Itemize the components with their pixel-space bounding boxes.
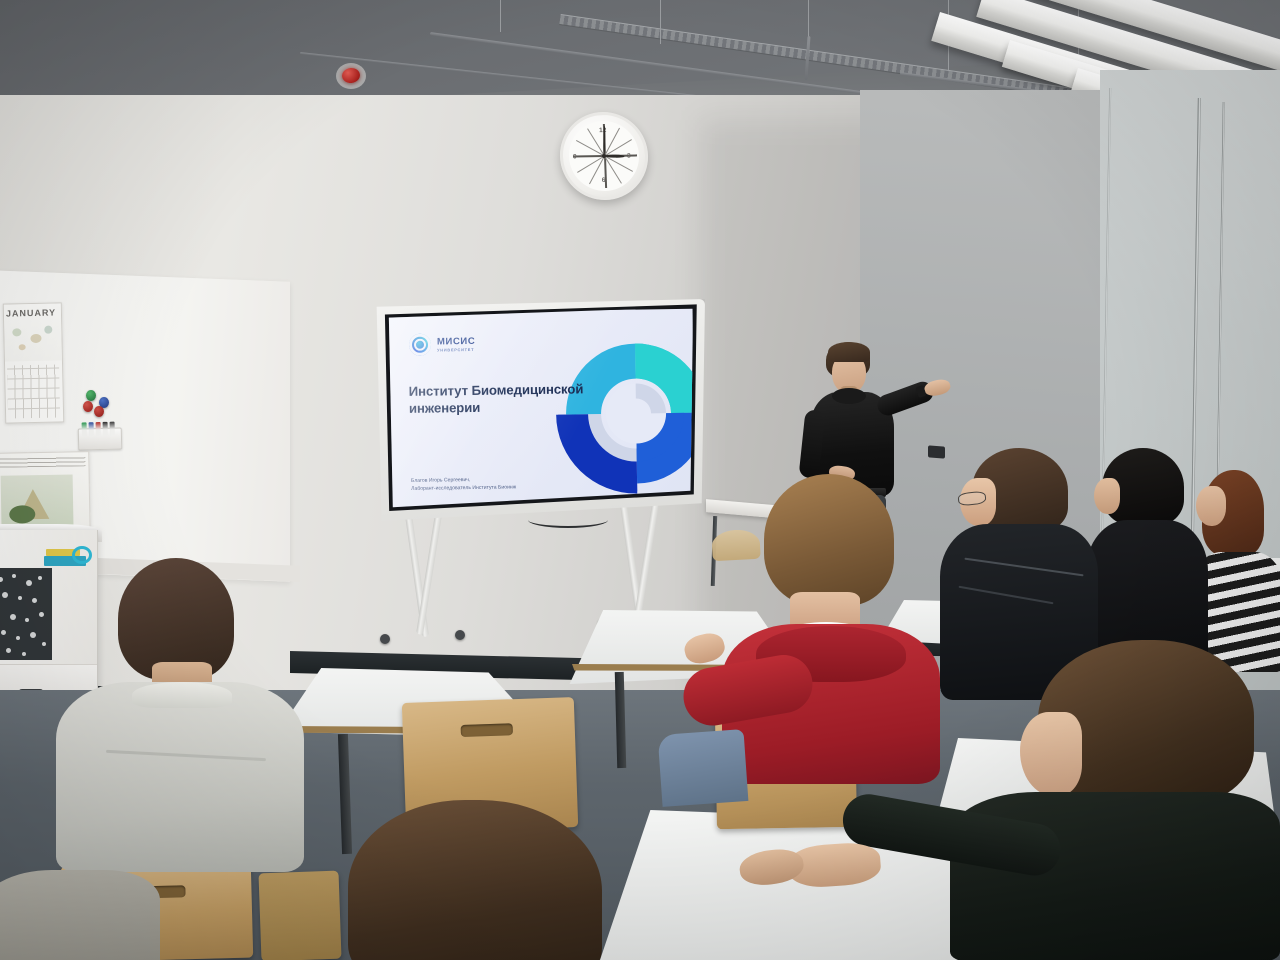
clock-number-3: 3 [627, 153, 631, 160]
calendar-heading: JANUARY [6, 308, 56, 319]
ceiling-hanger [500, 0, 501, 32]
marker-dark[interactable] [110, 422, 115, 436]
display-stand-caster [455, 630, 465, 640]
student-red-hoodie-jeans [658, 729, 749, 807]
misis-swirl-logo-icon [409, 334, 431, 356]
misis-logo-sub-text: УНИВЕРСИТЕТ [437, 347, 475, 351]
marker-green[interactable] [82, 422, 87, 436]
student-red-hoodie-hands [682, 630, 728, 667]
display-screen[interactable]: МИСИС УНИВЕРСИТЕТ Институт Биомедицинско… [375, 299, 705, 521]
misis-logo: МИСИС УНИВЕРСИТЕТ [409, 333, 476, 356]
presenter-right-hand [923, 378, 952, 398]
misis-logo-main-text: МИСИС [437, 336, 475, 346]
display-stand-caster [380, 634, 390, 644]
student-bottom-left-shoulder [0, 840, 150, 960]
student-red-hoodie-hair [764, 474, 894, 606]
student-foreground-face [1020, 712, 1082, 796]
magnet-green[interactable] [86, 390, 96, 401]
chair-bottom-center[interactable] [258, 871, 341, 960]
magnet-red[interactable] [83, 401, 93, 412]
clock-number-6: 6 [602, 177, 606, 184]
slide-title: Институт Биомедицинской инженерии [409, 381, 605, 417]
poster-caption-lines [0, 456, 85, 468]
slide-author-block: Благов Игорь Сергеевич, Лаборант-исследо… [411, 474, 611, 493]
chair-handle-slot [461, 723, 513, 737]
marker-red[interactable] [96, 422, 101, 436]
student-red-hoodie [660, 474, 950, 804]
classroom-scene: 12 3 6 9 JANUARY [0, 0, 1280, 960]
wall-calendar-poster: JANUARY [3, 302, 65, 423]
student-foreground-dark [920, 640, 1280, 960]
misis-logo-text: МИСИС УНИВЕРСИТЕТ [437, 336, 476, 351]
calendar-grid [7, 365, 61, 419]
marker-tray [78, 427, 123, 450]
marker-blue[interactable] [89, 422, 94, 436]
presenter-turtleneck-collar [832, 388, 866, 404]
presenter-hair-front [828, 342, 870, 362]
student-bottom-left-torso [0, 870, 160, 960]
magnet-red-2[interactable] [94, 406, 104, 417]
student-grey-shirt-collar [132, 682, 232, 708]
clock-number-9: 9 [573, 153, 577, 160]
ceiling-hanger [660, 0, 661, 44]
student-bottom-left [348, 800, 638, 960]
marker-black[interactable] [103, 422, 108, 436]
clock-center-pin [602, 154, 606, 158]
student-bottom-left-hair [348, 800, 602, 960]
cabinet-perforated-panel [0, 568, 52, 660]
student-grey-shirt [66, 558, 326, 858]
presentation-slide: МИСИС УНИВЕРСИТЕТ Институт Биомедицинско… [383, 309, 696, 512]
interactive-display-panel[interactable]: МИСИС УНИВЕРСИТЕТ Институт Биомедицинско… [375, 299, 705, 521]
